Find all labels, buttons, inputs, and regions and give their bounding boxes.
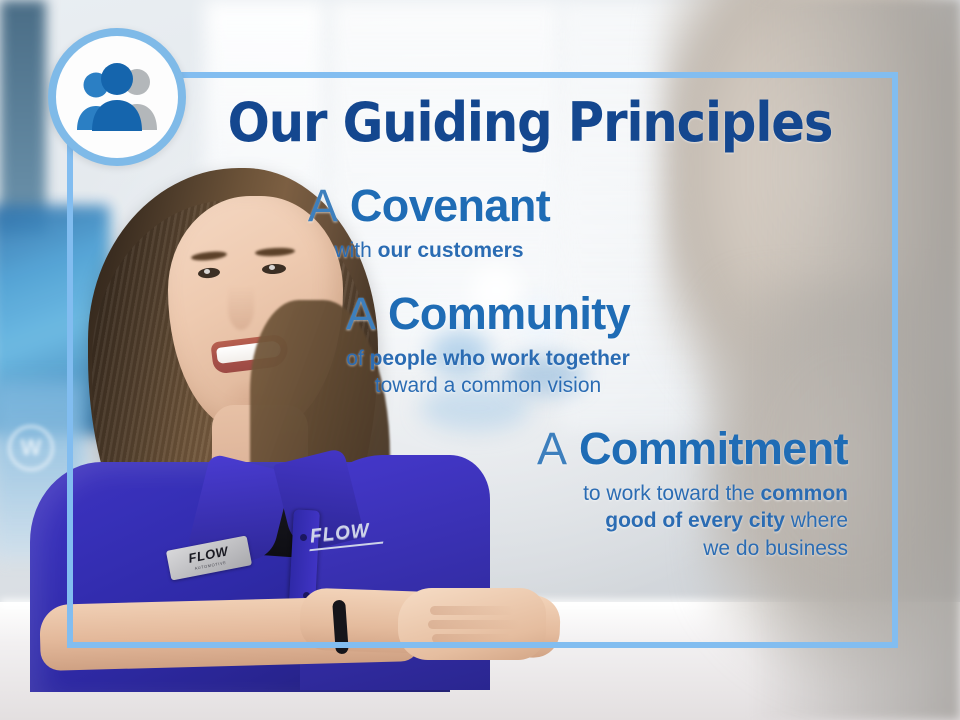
- principle-subtext: of people who work togethertoward a comm…: [170, 345, 806, 400]
- photo-car-emblem: [8, 425, 54, 471]
- principle-item-covenant: A Covenant with our customers: [170, 182, 858, 264]
- people-badge: [48, 28, 186, 166]
- page-title: Our Guiding Principles: [226, 96, 833, 150]
- principle-heading: A Community: [170, 290, 806, 338]
- principle-heading: A Commitment: [170, 425, 848, 473]
- principles-list: A Covenant with our customers A Communit…: [170, 182, 870, 562]
- principle-item-commitment: A Commitment to work toward the commongo…: [170, 425, 858, 562]
- principle-subtext: with our customers: [170, 237, 688, 264]
- principle-lead: A: [346, 288, 388, 339]
- principle-keyword: Commitment: [579, 423, 848, 474]
- principle-heading: A Covenant: [170, 182, 688, 230]
- principle-keyword: Community: [388, 288, 630, 339]
- principle-subtext: to work toward the commongood of every c…: [170, 480, 848, 562]
- principle-lead: A: [308, 180, 350, 231]
- principle-item-community: A Community of people who work togethert…: [170, 290, 858, 399]
- photo-wall-strip: [0, 0, 46, 235]
- principle-keyword: Covenant: [350, 180, 550, 231]
- guiding-principles-graphic: FLOW AUTOMOTIVE FLOW Our Guid: [0, 0, 960, 720]
- people-group-icon: [71, 60, 163, 134]
- principle-lead: A: [537, 423, 579, 474]
